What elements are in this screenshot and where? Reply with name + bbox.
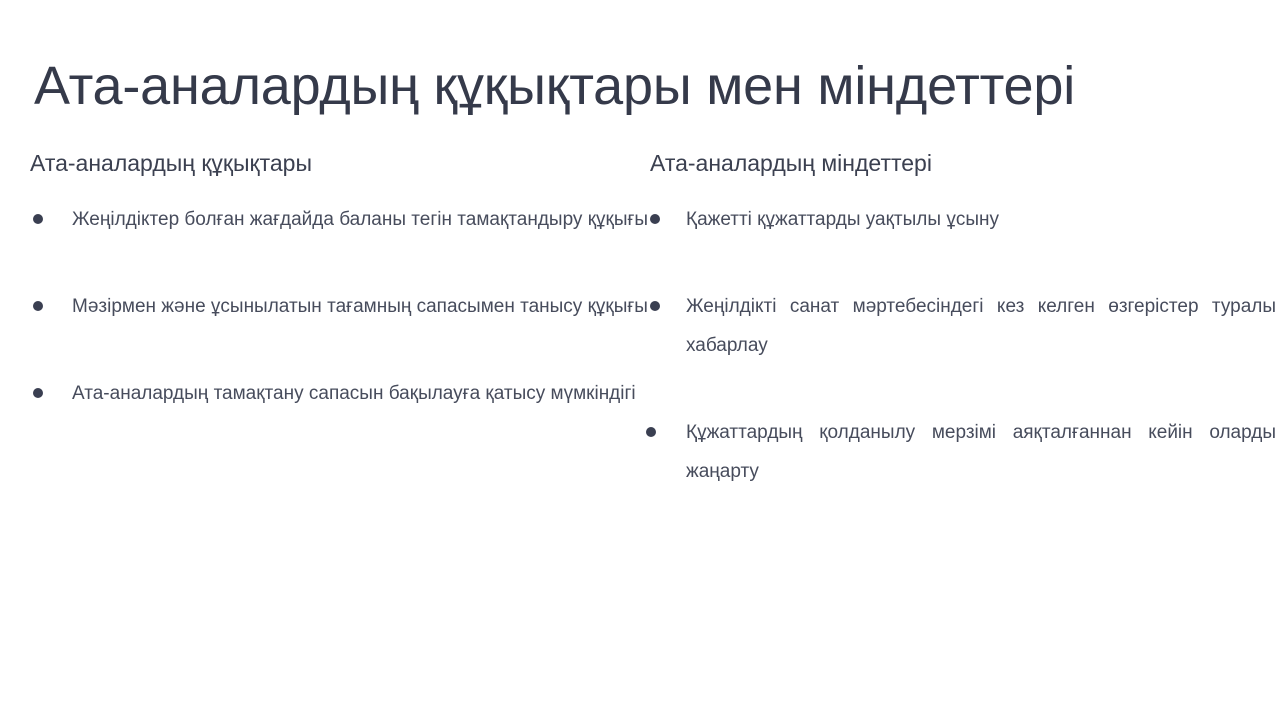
column-heading-rights: Ата-аналардың құқықтары [30,148,653,178]
slide-canvas: Ата-аналардың құқықтары мен міндеттері А… [0,0,1280,720]
list-item: Қажетті құжаттарды уақтылы ұсыну [648,200,1276,239]
column-rights: Ата-аналардың құқықтары Жеңілдіктер болғ… [28,148,653,413]
bullet-dot-icon [33,214,43,224]
list-item: Жеңілдікті санат мәртебесіндегі кез келг… [648,287,1276,365]
page-title: Ата-аналардың құқықтары мен міндеттері [34,53,1244,119]
list-item-text: Ата-аналардың тамақтану сапасын бақылауғ… [72,374,653,413]
bullet-list-duties: Қажетті құжаттарды уақтылы ұсыну Жеңілді… [648,200,1276,491]
list-item-text: Қажетті құжаттарды уақтылы ұсыну [686,200,1276,239]
list-item-text: Жеңілдіктер болған жағдайда баланы тегін… [72,200,653,239]
bullet-dot-icon [33,388,43,398]
bullet-dot-icon [650,214,660,224]
list-item-text: Құжаттардың қолданылу мерзімі аяқталғанн… [686,413,1276,491]
bullet-dot-icon [33,301,43,311]
bullet-list-rights: Жеңілдіктер болған жағдайда баланы тегін… [28,200,653,413]
content-columns: Ата-аналардың құқықтары Жеңілдіктер болғ… [0,148,1280,568]
bullet-dot-icon [646,427,656,437]
list-item-text: Мәзірмен және ұсынылатын тағамның сапасы… [72,287,653,326]
list-item-text: Жеңілдікті санат мәртебесіндегі кез келг… [686,287,1276,365]
list-item: Құжаттардың қолданылу мерзімі аяқталғанн… [648,413,1276,491]
list-item: Ата-аналардың тамақтану сапасын бақылауғ… [28,374,653,413]
bullet-dot-icon [650,301,660,311]
list-item: Мәзірмен және ұсынылатын тағамның сапасы… [28,287,653,326]
column-heading-duties: Ата-аналардың міндеттері [650,148,1276,178]
column-duties: Ата-аналардың міндеттері Қажетті құжатта… [648,148,1276,491]
list-item: Жеңілдіктер болған жағдайда баланы тегін… [28,200,653,239]
